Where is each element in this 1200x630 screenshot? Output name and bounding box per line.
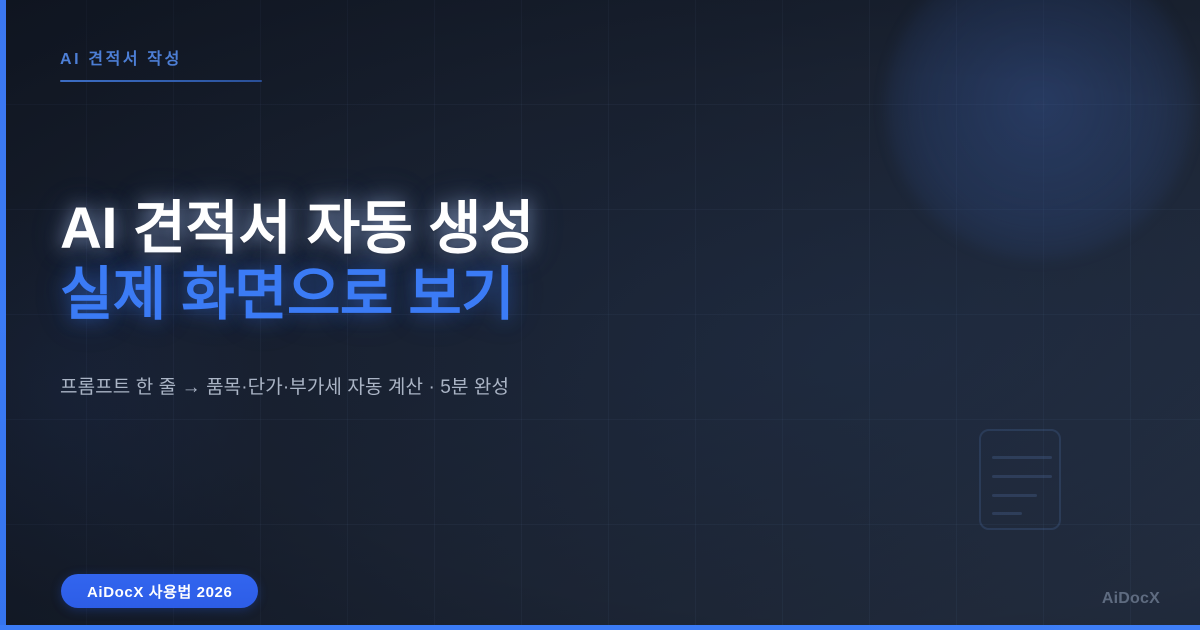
title-line-primary: AI 견적서 자동 생성 [60, 196, 920, 262]
content-area: AI 견적서 작성 AI 견적서 자동 생성 실제 화면으로 보기 프롬프트 한… [60, 0, 960, 630]
brand-watermark: AiDocX [1102, 590, 1160, 608]
document-icon-line [992, 456, 1052, 459]
document-icon-line [992, 475, 1052, 478]
document-icon-line [992, 494, 1037, 497]
page-title: AI 견적서 자동 생성 실제 화면으로 보기 [60, 196, 920, 328]
hero-card: AI 견적서 작성 AI 견적서 자동 생성 실제 화면으로 보기 프롬프트 한… [0, 0, 1200, 630]
title-line-accent: 실제 화면으로 보기 [60, 262, 920, 328]
eyebrow-label: AI 견적서 작성 [60, 45, 262, 69]
left-accent-bar [0, 0, 6, 630]
status-badge[interactable]: AiDocX 사용법 2026 [61, 574, 258, 608]
document-icon [979, 429, 1061, 530]
eyebrow-group: AI 견적서 작성 [60, 45, 262, 82]
document-icon-line [992, 512, 1022, 515]
subtitle-text: 프롬프트 한 줄 → 품목·단가·부가세 자동 계산 · 5분 완성 [60, 372, 509, 399]
eyebrow-underline [60, 80, 262, 82]
